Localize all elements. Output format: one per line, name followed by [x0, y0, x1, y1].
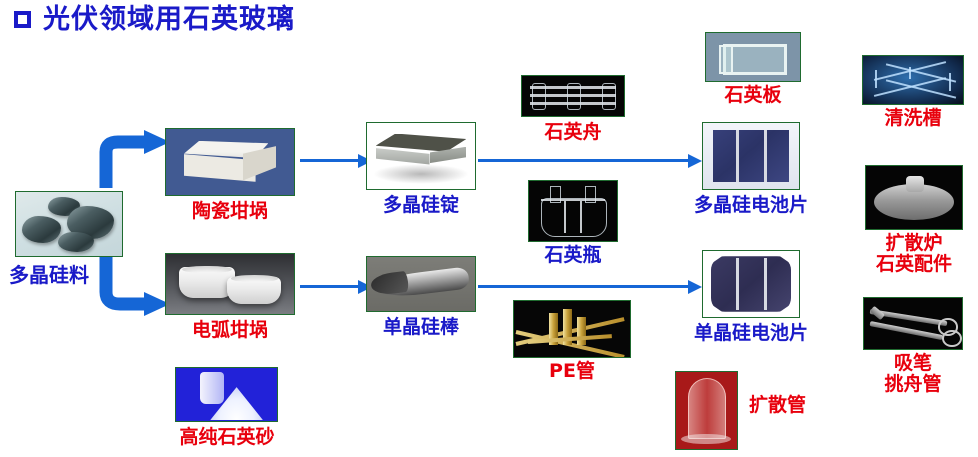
- silicon-feedstock-label: 多晶硅料: [9, 265, 89, 286]
- page-title: 光伏领域用石英玻璃: [14, 6, 295, 33]
- poly-cell-label: 多晶硅电池片: [670, 196, 832, 216]
- diffusion-furnace-label-line1: 扩散炉: [855, 234, 973, 254]
- poly-ingot-label: 多晶硅锭: [358, 196, 484, 216]
- cleaning-tank-label: 清洗槽: [852, 109, 974, 129]
- diffusion-tube-label: 扩散管: [749, 396, 806, 416]
- polysilicon-ingot-photo: [366, 122, 476, 190]
- page-title-text: 光伏领域用石英玻璃: [43, 6, 295, 33]
- slide-canvas: 光伏领域用石英玻璃 多晶硅料: [0, 0, 978, 457]
- arc-crucible-label: 电弧坩埚: [165, 321, 295, 341]
- ceramic-crucible-photo: [165, 128, 295, 196]
- mono-rod-label: 单晶硅棒: [358, 318, 484, 338]
- quartz-plate-label: 石英板: [697, 86, 809, 106]
- arrow-rod-to-monocell-head: [688, 280, 702, 294]
- diffusion-furnace-label-line2: 石英配件: [855, 255, 973, 275]
- quartz-bottle-label: 石英瓶: [516, 246, 630, 266]
- arrow-feedstock-to-ceramic-crucible: [96, 126, 176, 191]
- suction-tools-label-line1: 吸笔: [853, 354, 973, 374]
- suction-tools-label-line2: 挑舟管: [853, 375, 973, 395]
- pe-tube-label: PE管: [513, 362, 631, 382]
- monosilicon-rod-photo: [366, 256, 476, 312]
- square-bullet-icon: [14, 11, 31, 28]
- ceramic-crucible-label: 陶瓷坩埚: [165, 202, 295, 222]
- arc-crucible-photo: [165, 253, 295, 315]
- arrow-ingot-to-polycell-line: [478, 159, 694, 162]
- pe-tube-photo: [513, 300, 631, 358]
- quartz-bottle-photo: [528, 180, 618, 242]
- monosilicon-solar-cell-photo: [702, 250, 800, 318]
- quartz-boat-photo: [521, 75, 625, 117]
- arrow-feedstock-to-arc-crucible: [96, 252, 176, 320]
- arrow-ceramic-to-ingot-line: [300, 159, 362, 162]
- quartz-sand-photo: [175, 367, 278, 422]
- mono-cell-label: 单晶硅电池片: [670, 324, 832, 344]
- quartz-boat-label: 石英舟: [515, 123, 631, 143]
- arrow-ingot-to-polycell-head: [688, 154, 702, 168]
- arrow-arccrucible-to-rod-line: [300, 285, 362, 288]
- quartz-plate-photo: [705, 32, 801, 82]
- diffusion-tube-photo: [675, 371, 738, 450]
- polysilicon-solar-cell-photo: [702, 122, 800, 190]
- quartz-sand-label: 高纯石英砂: [153, 428, 301, 448]
- silicon-chunks-photo: [15, 191, 123, 257]
- cleaning-tank-photo: [862, 55, 964, 105]
- diffusion-furnace-quartz-part-photo: [865, 165, 963, 230]
- arrow-rod-to-monocell-line: [478, 285, 694, 288]
- suction-pen-boat-tool-photo: [863, 297, 963, 350]
